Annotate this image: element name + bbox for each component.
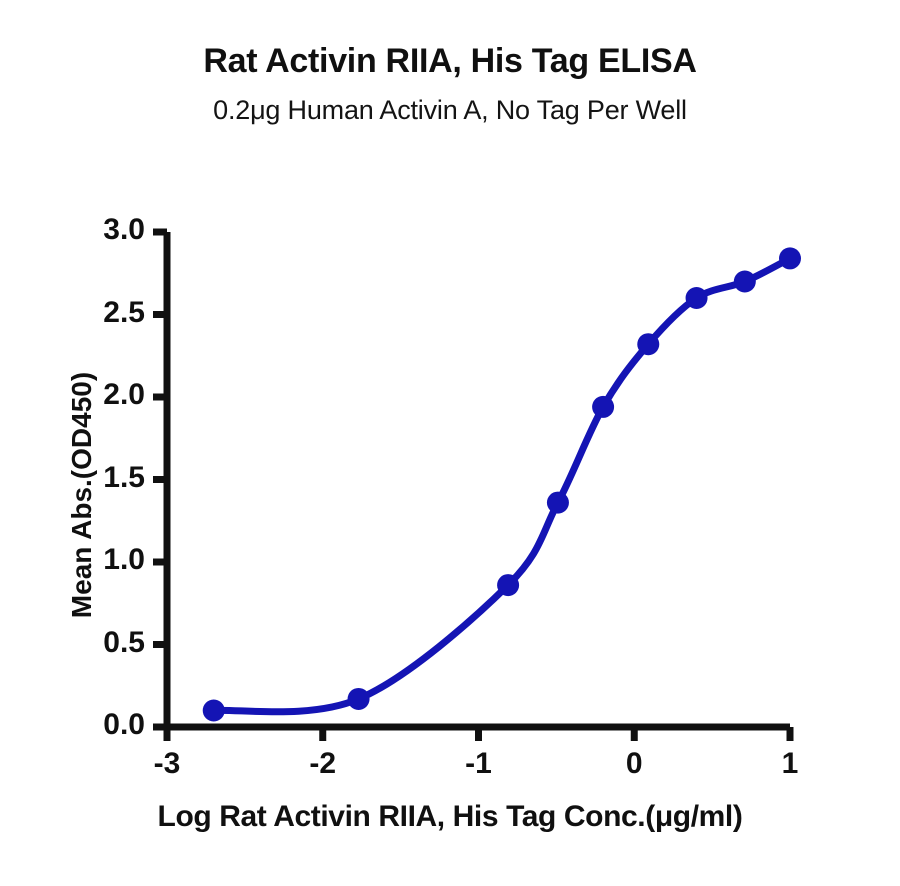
data-point-marker: [686, 287, 708, 309]
data-point-marker: [547, 492, 569, 514]
x-axis-tick-label: 1: [750, 747, 830, 781]
x-axis-tick-label: 0: [594, 747, 674, 781]
x-axis-tick-label: -2: [283, 747, 363, 781]
data-point-marker: [592, 396, 614, 418]
data-point-markers: [203, 247, 801, 721]
data-point-marker: [348, 688, 370, 710]
data-point-marker: [637, 333, 659, 355]
y-axis-title: Mean Abs.(OD450): [66, 245, 98, 745]
x-axis-tick-label: -3: [127, 747, 207, 781]
data-point-marker: [497, 574, 519, 596]
data-point-marker: [779, 247, 801, 269]
x-axis-title: Log Rat Activin RIIA, His Tag Conc.(μg/m…: [0, 800, 900, 834]
data-point-marker: [734, 271, 756, 293]
data-point-marker: [203, 700, 225, 722]
elisa-binding-chart: Rat Activin RIIA, His Tag ELISA 0.2μg Hu…: [0, 0, 900, 886]
x-axis-tick-label: -1: [439, 747, 519, 781]
sigmoid-fit-curve: [214, 258, 790, 711]
y-axis-tick-label: 3.0: [35, 213, 145, 247]
